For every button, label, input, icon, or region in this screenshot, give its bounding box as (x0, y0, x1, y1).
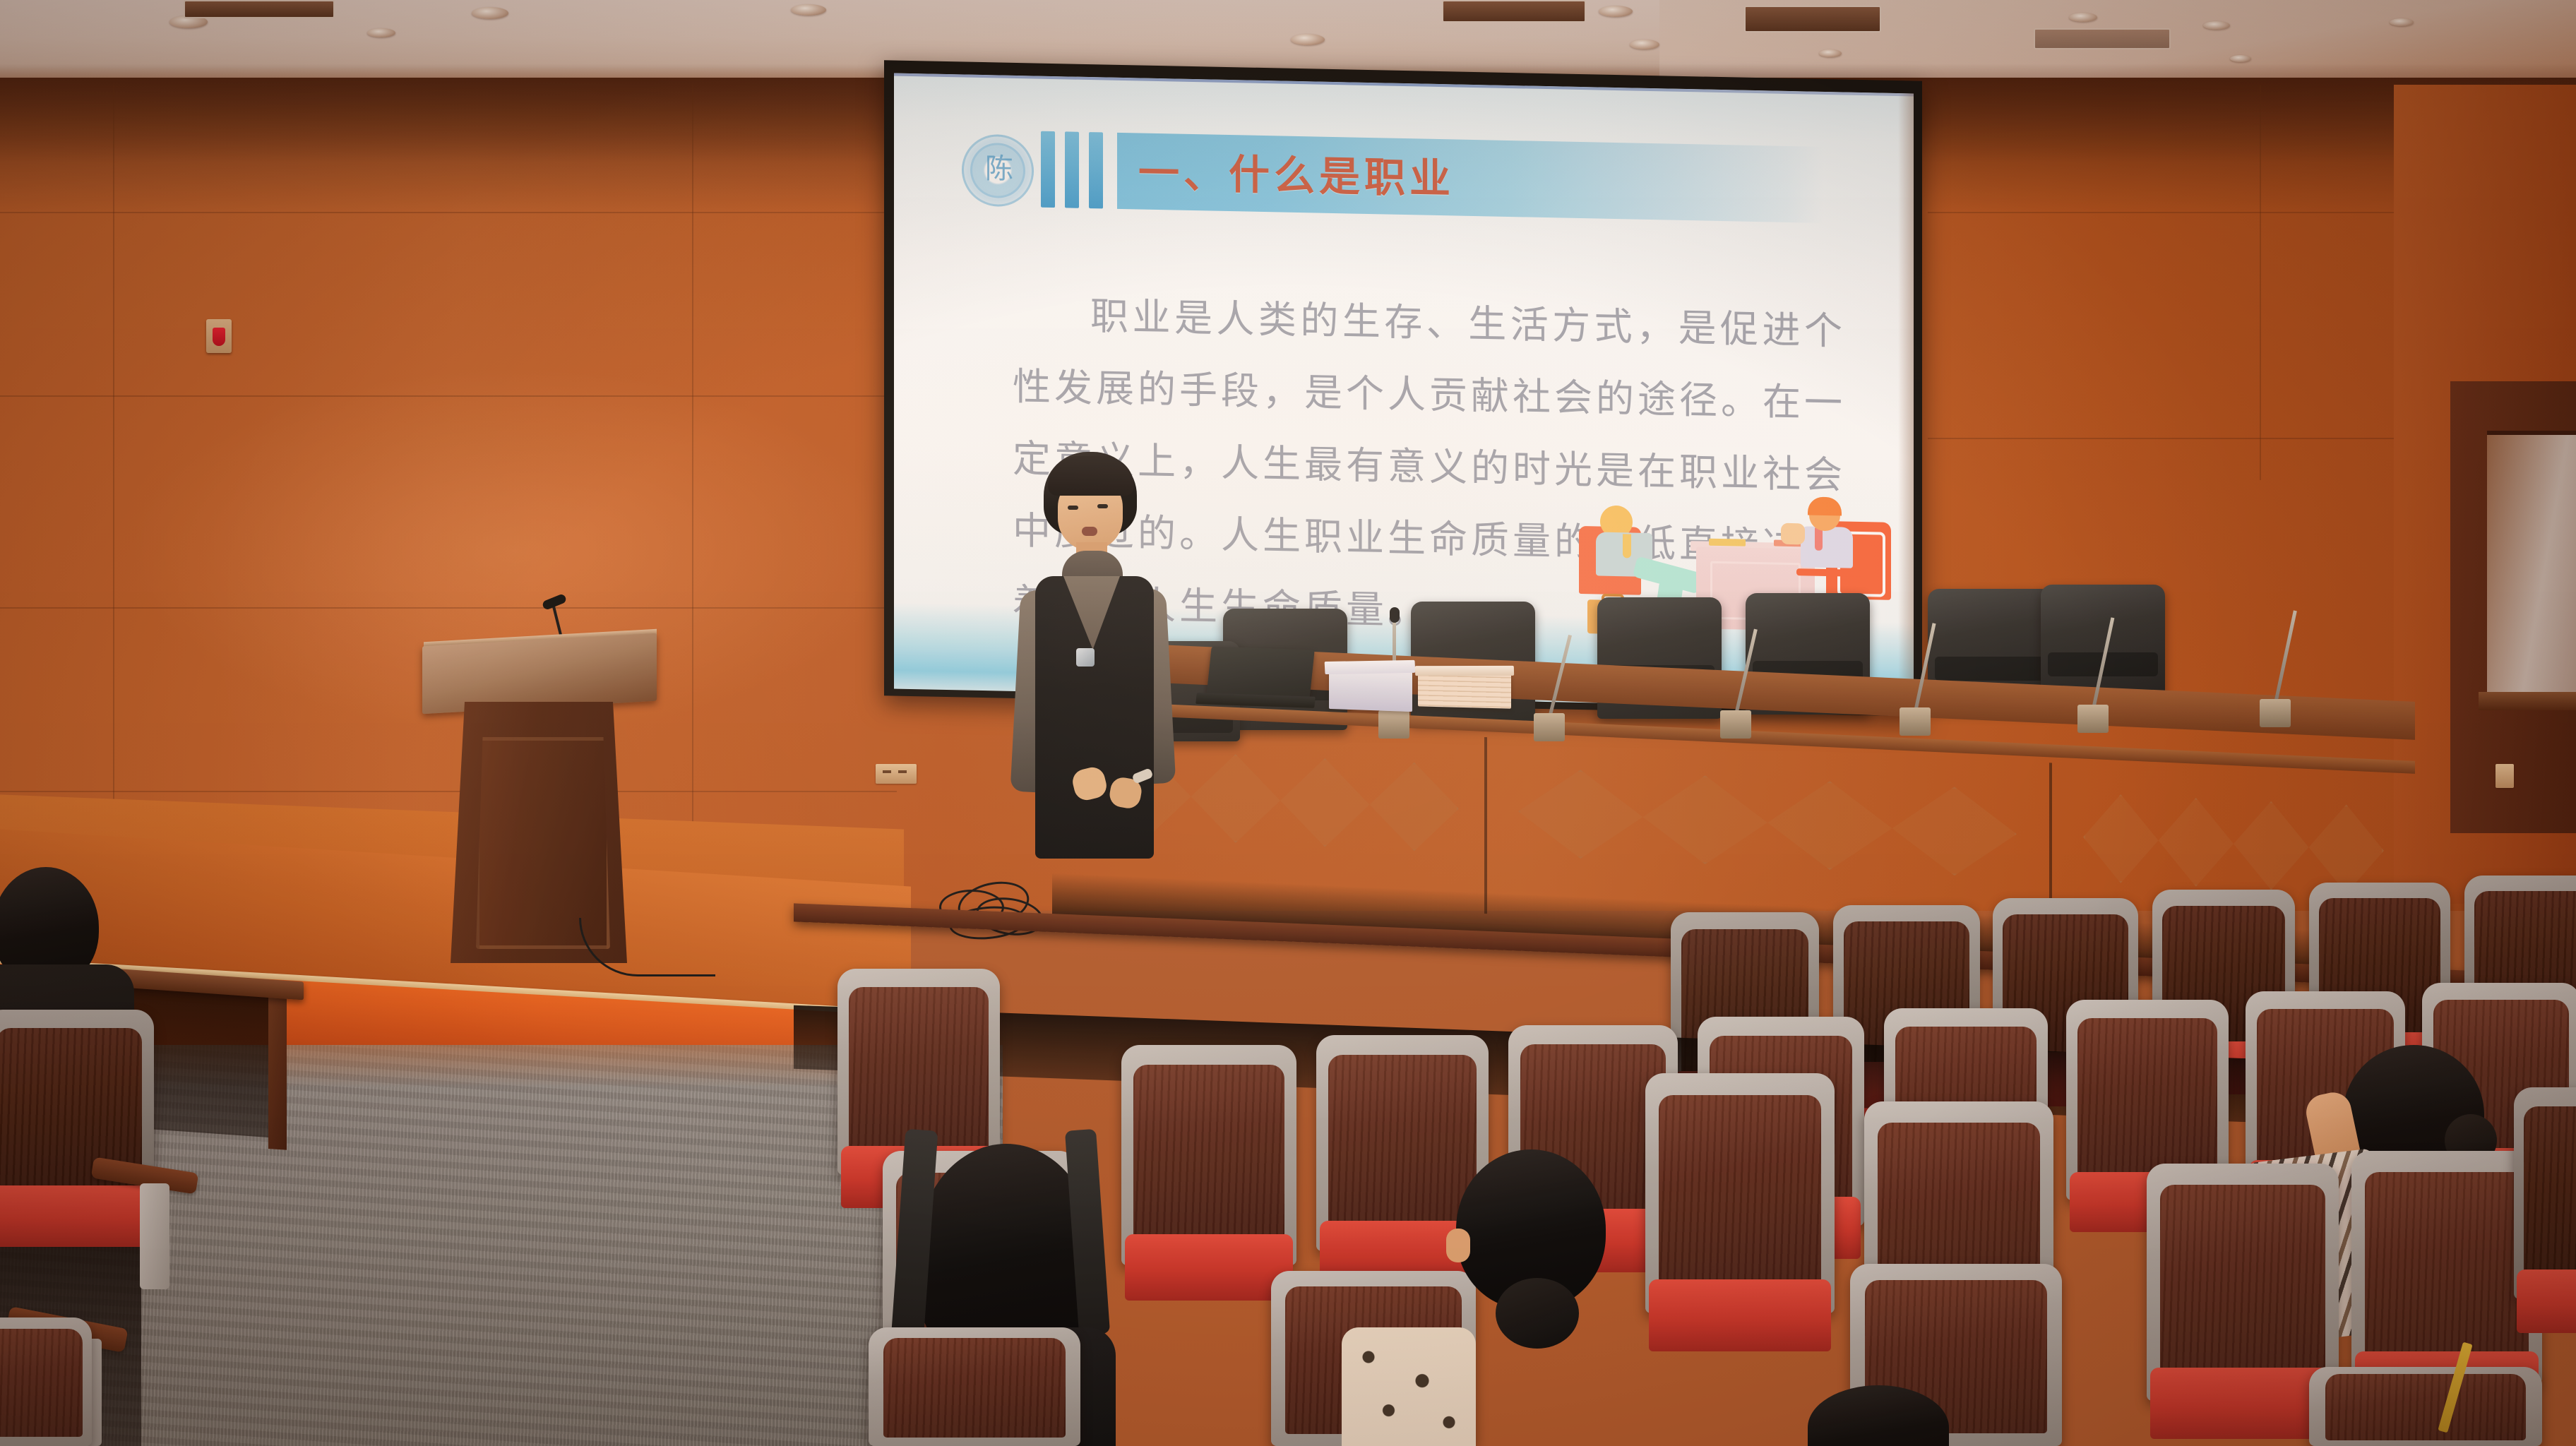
downlight-icon (2203, 21, 2230, 30)
laptop[interactable] (1206, 646, 1315, 700)
auditorium-seat[interactable] (869, 1327, 1080, 1446)
ceiling-vent (1744, 6, 1881, 32)
auditorium-seat[interactable] (0, 1317, 92, 1446)
illustration-person-right-body (1801, 526, 1853, 568)
presenter-fringe (1048, 456, 1134, 496)
downlight-icon (1819, 49, 1842, 57)
paper-box-lid (1325, 660, 1416, 674)
door-glass-panel (2487, 431, 2576, 696)
ceiling-vent (1442, 0, 1586, 23)
side-table-leg (268, 993, 287, 1150)
seat-arm-post (140, 1183, 169, 1289)
downlight-icon (472, 7, 508, 19)
white-paper-box (1329, 668, 1412, 712)
head-table-seam (1484, 737, 1489, 914)
presenter-speaker (1011, 452, 1174, 890)
auditorium-seat[interactable] (2514, 1087, 2576, 1299)
presenter-mouth (1082, 527, 1097, 536)
fire-alarm-pull-station[interactable] (206, 319, 232, 353)
audience-leopard-top (1342, 1327, 1476, 1446)
wall-panel-seam-vertical (113, 85, 114, 911)
auditorium-seat[interactable] (1121, 1045, 1296, 1265)
downlight-icon (1599, 6, 1633, 17)
ceiling-vent (2034, 28, 2171, 49)
alarm-button-icon (213, 328, 225, 346)
downlight-icon (2069, 13, 2097, 22)
wall-panel-seam-vertical (692, 85, 693, 911)
illustration-person-right-hand (1781, 523, 1805, 545)
downlight-icon (791, 4, 826, 16)
auditorium-seat[interactable] (2309, 1367, 2542, 1446)
podium-front-panel (476, 737, 610, 949)
illustration-person-right-hair (1808, 496, 1842, 515)
auditorium-photo: 陈 一、什么是职业 职业是人类的生存、生活方式，是促进个性发展的手段，是个人贡献… (0, 0, 2576, 1446)
wall-panel-seam (0, 395, 897, 397)
wall-power-outlet[interactable] (2495, 764, 2514, 788)
downlight-icon (1291, 34, 1325, 45)
illustration-document (1709, 539, 1746, 546)
wall-panel-seam-vertical (2260, 85, 2261, 480)
downlight-icon (367, 28, 395, 37)
slide-accent-bars-icon (1041, 131, 1117, 209)
wall-power-outlet[interactable] (876, 764, 917, 784)
illustration-person-right-tie (1815, 528, 1823, 551)
audience-hair-bun (1496, 1278, 1579, 1349)
presenter-badge-pin (1076, 648, 1095, 667)
presenter-eye-left (1068, 506, 1078, 510)
wall-panel-seam (0, 212, 897, 213)
presenter-eye-right (1097, 504, 1108, 508)
ceiling-vent (184, 0, 335, 18)
auditorium-seat[interactable] (2147, 1164, 2339, 1401)
document-cover (1415, 666, 1514, 676)
audience-ear (1446, 1229, 1470, 1262)
downlight-icon (2390, 18, 2414, 26)
stacked-documents (1418, 671, 1511, 708)
seal-glyph: 陈 (964, 154, 1032, 184)
illustration-person-left-tie (1623, 534, 1631, 558)
auditorium-seat[interactable] (1645, 1073, 1835, 1313)
university-seal-logo-icon: 陈 (962, 133, 1034, 207)
downlight-icon (1630, 40, 1659, 49)
door-rail (2479, 692, 2576, 710)
downlight-icon (2230, 55, 2251, 62)
